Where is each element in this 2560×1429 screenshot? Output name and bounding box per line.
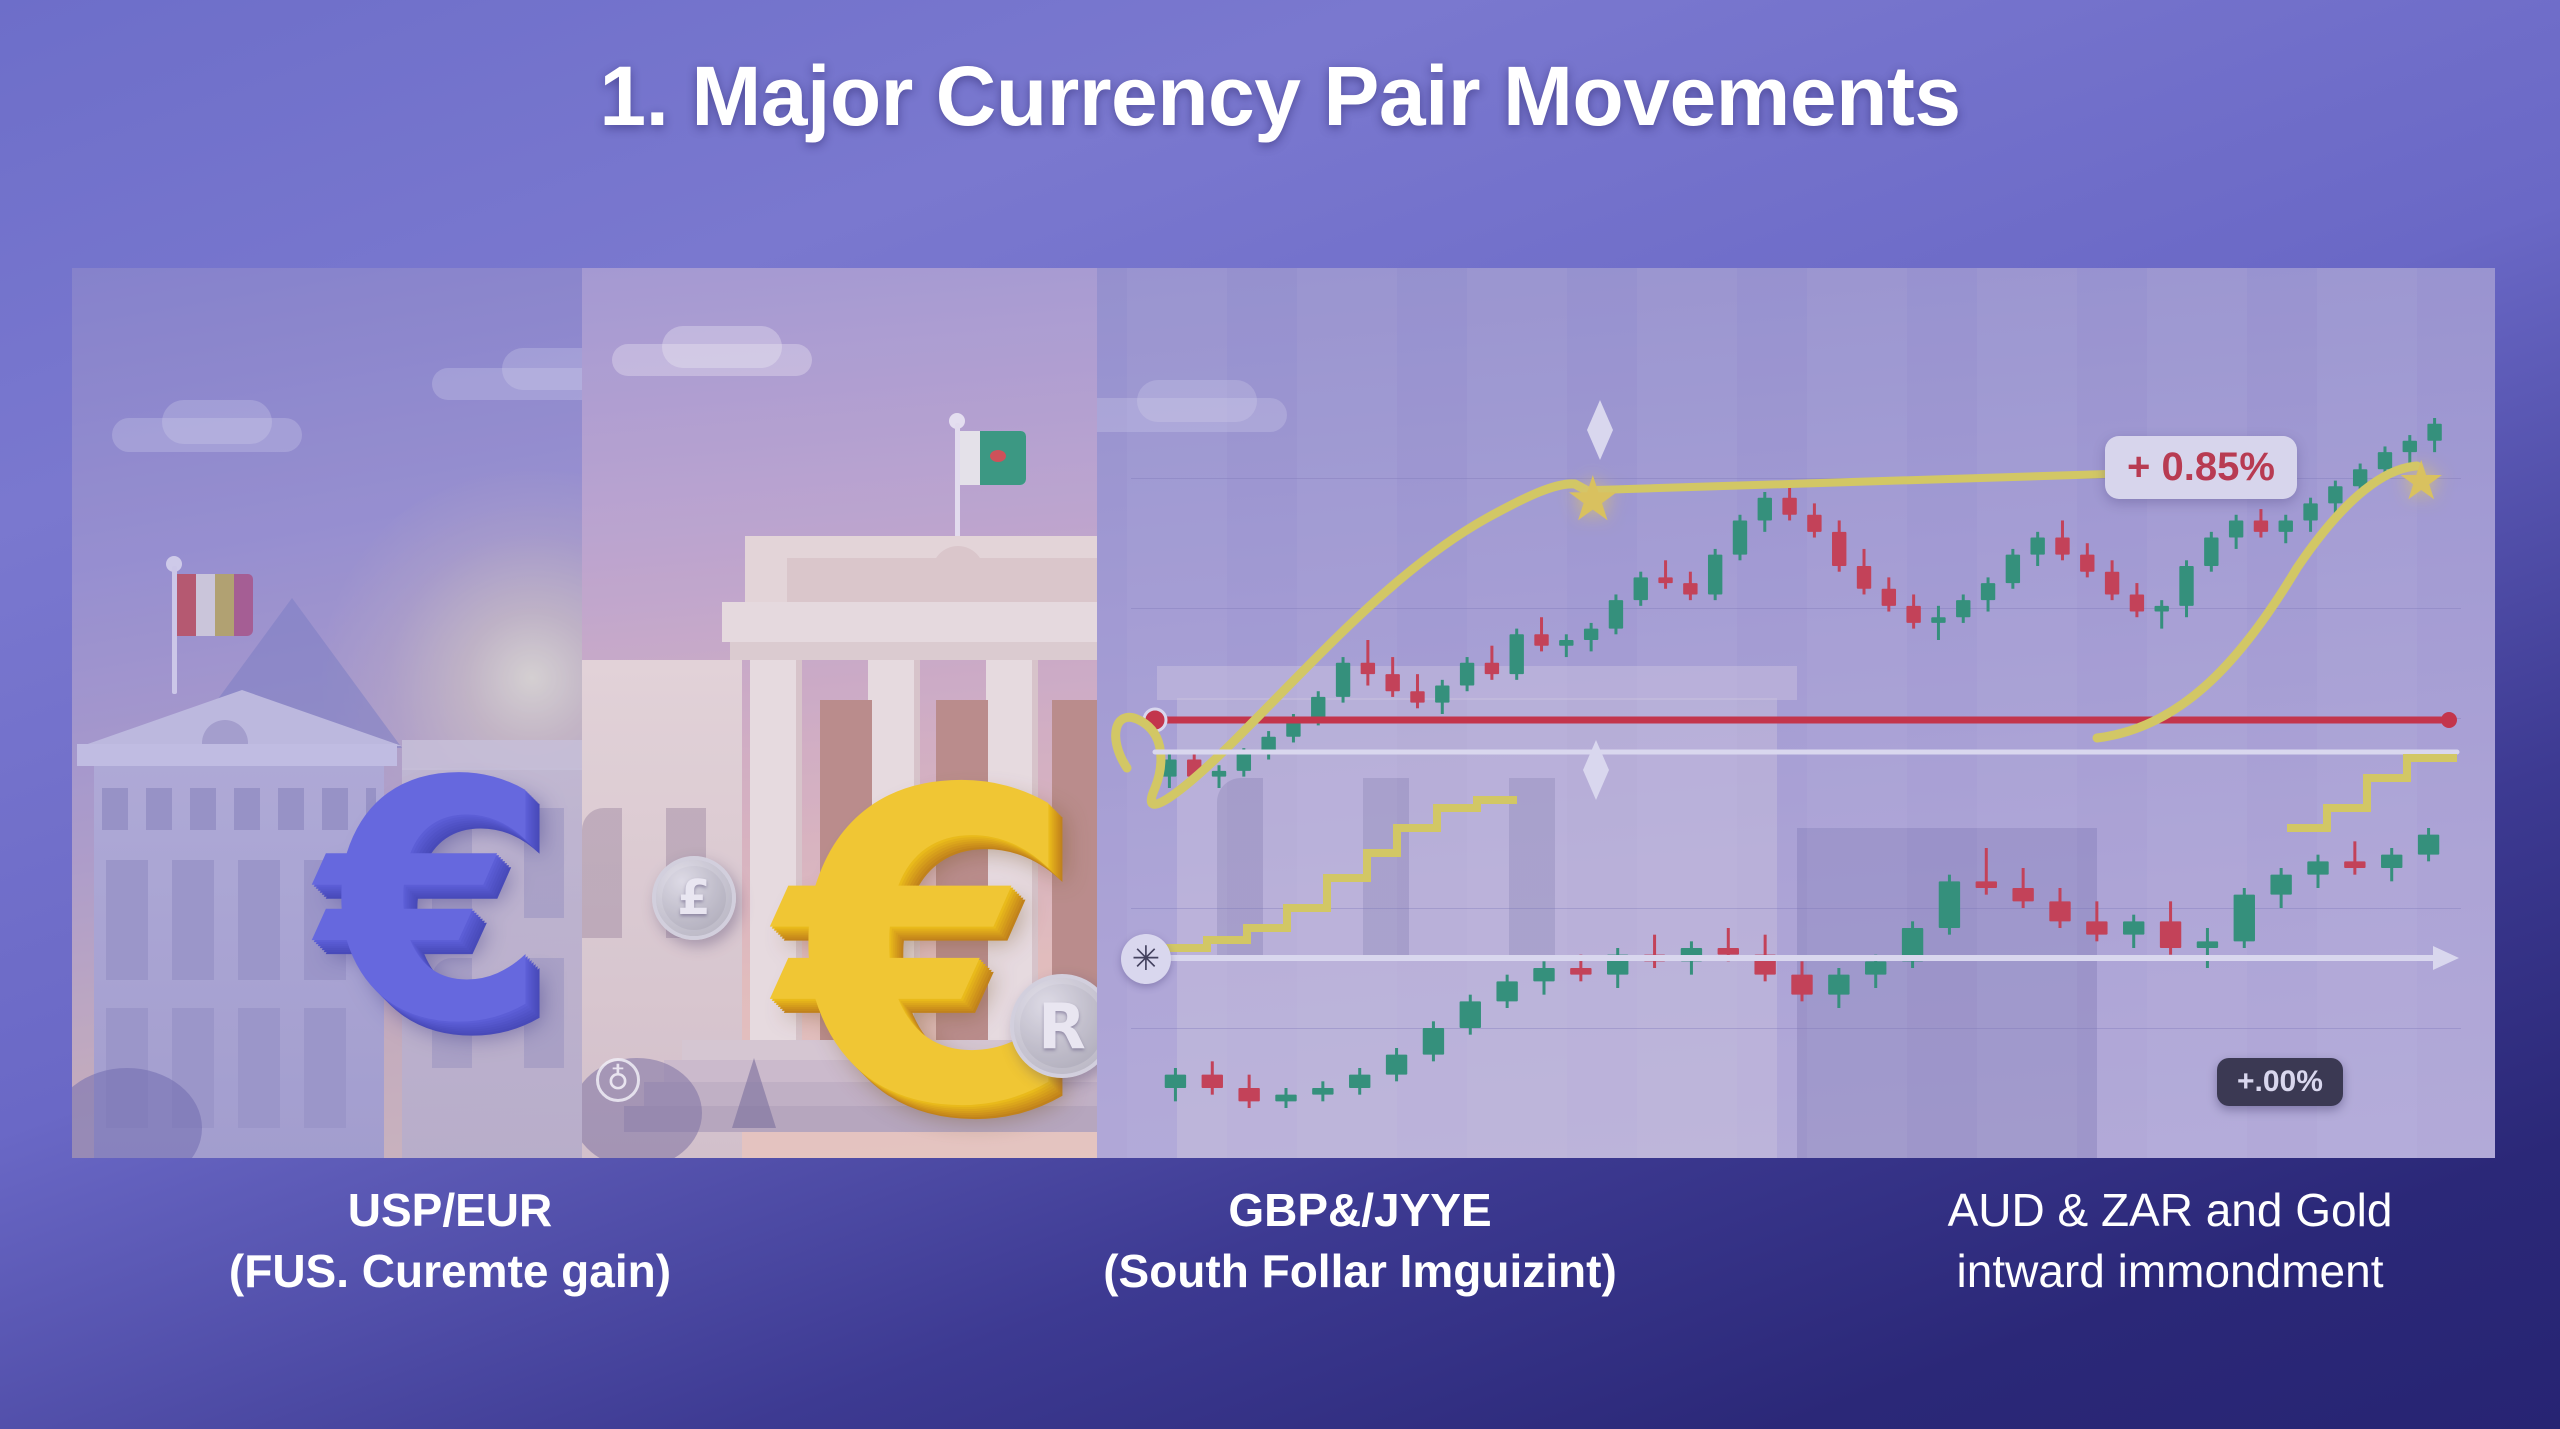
caption-aud-zar-gold: AUD & ZAR and Gold intward immondment bbox=[1790, 1180, 2550, 1301]
caption-aud-zar-gold-line1: AUD & ZAR and Gold bbox=[1790, 1180, 2550, 1241]
panel-3-sky: ★ ★ + 0.85% ✳ +.00% bbox=[1097, 268, 2495, 1158]
caption-usd-eur-line2: (FUS. Curemte gain) bbox=[20, 1241, 880, 1302]
caption-aud-zar-gold-line2: intward immondment bbox=[1790, 1241, 2550, 1302]
panel-aud-zar-gold[interactable]: ★ ★ + 0.85% ✳ +.00% bbox=[1097, 268, 2495, 1158]
panel-strip: € bbox=[72, 268, 2495, 1158]
caption-usd-eur: USP/EUR (FUS. Curemte gain) bbox=[20, 1180, 880, 1301]
caption-gbp-jpy-line1: GBP&/JYYE bbox=[930, 1180, 1790, 1241]
panel-3-overlay bbox=[1097, 268, 2495, 1158]
caption-gbp-jpy: GBP&/JYYE (South Follar Imguizint) bbox=[930, 1180, 1790, 1301]
page-title: 1. Major Currency Pair Movements bbox=[0, 48, 2560, 145]
caption-gbp-jpy-line2: (South Follar Imguizint) bbox=[930, 1241, 1790, 1302]
caption-row: USP/EUR (FUS. Curemte gain) GBP&/JYYE (S… bbox=[0, 1180, 2560, 1400]
caption-usd-eur-line1: USP/EUR bbox=[20, 1180, 880, 1241]
